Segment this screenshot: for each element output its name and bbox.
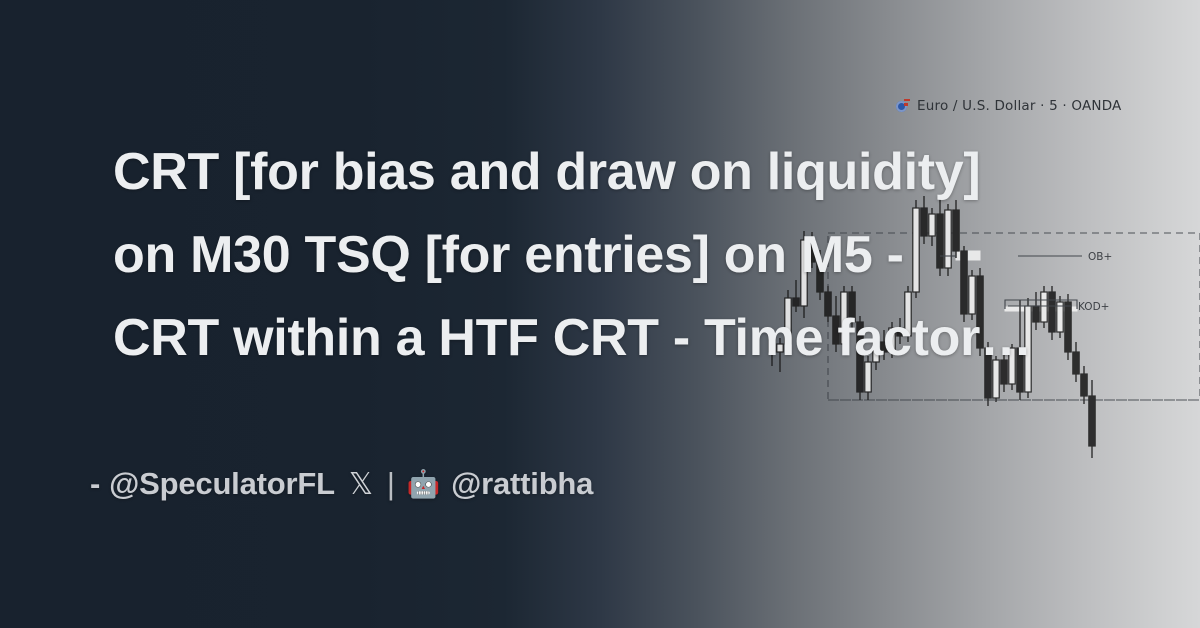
- oanda-logo-icon: [896, 99, 911, 114]
- x-logo-icon: 𝕏: [349, 467, 373, 502]
- candle-40: [1089, 380, 1095, 458]
- twitter-handle[interactable]: @SpeculatorFL: [109, 466, 335, 502]
- title-line-1: CRT [for bias and draw on liquidity]: [113, 131, 1113, 214]
- rattibha-handle[interactable]: @rattibha: [451, 466, 593, 502]
- byline-separator: |: [387, 466, 395, 502]
- social-share-card: OB+KOD+ Euro / U.S. Dollar · 5 · OANDA C…: [0, 0, 1200, 628]
- robot-icon: 🤖: [407, 468, 440, 500]
- page-title: CRT [for bias and draw on liquidity] on …: [113, 131, 1113, 380]
- chart-symbol-header: Euro / U.S. Dollar · 5 · OANDA: [896, 98, 1122, 114]
- byline-dash: -: [90, 466, 100, 502]
- title-line-3: CRT within a HTF CRT - Time factor…: [113, 297, 1113, 380]
- byline: - @SpeculatorFL 𝕏 | 🤖 @rattibha: [90, 466, 593, 502]
- chart-symbol-label: Euro / U.S. Dollar · 5 · OANDA: [917, 98, 1122, 114]
- title-line-2: on M30 TSQ [for entries] on M5 -: [113, 214, 1113, 297]
